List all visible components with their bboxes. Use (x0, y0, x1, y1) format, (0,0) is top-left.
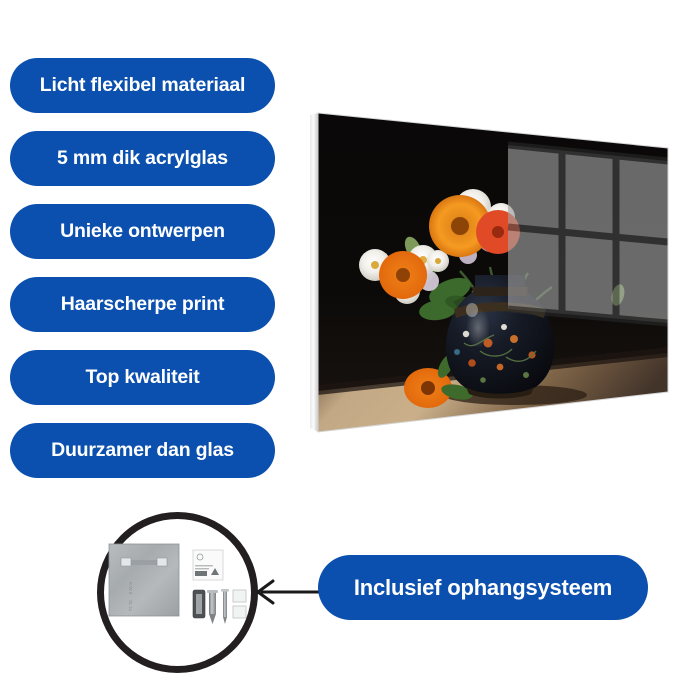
feature-badge-label: Haarscherpe print (61, 295, 225, 315)
feature-badge-2[interactable]: 5 mm dik acrylglas (10, 131, 275, 186)
feature-badge-label: 5 mm dik acrylglas (57, 149, 228, 169)
nail (221, 589, 229, 624)
marigold-bloom (379, 251, 427, 299)
feature-badge-5[interactable]: Top kwaliteit (10, 350, 275, 405)
feature-badge-label: Unieke ontwerpen (60, 222, 225, 242)
wall-plug (193, 590, 205, 618)
feature-badge-4[interactable]: Haarscherpe print (10, 277, 275, 332)
feature-badge-6[interactable]: Duurzamer dan glas (10, 423, 275, 478)
hanging-system-badge[interactable]: Inclusief ophangsysteem (318, 555, 648, 620)
feature-badge-3[interactable]: Unieke ontwerpen (10, 204, 275, 259)
hanging-system-callout-circle: K W 3 SL 11 (97, 512, 258, 673)
aluminium-hanging-plate: K W 3 SL 11 (109, 544, 179, 616)
acrylic-panel-artwork (300, 95, 680, 450)
feature-badge-label: Top kwaliteit (85, 368, 199, 388)
hanging-system-badge-label: Inclusief ophangsysteem (354, 577, 612, 599)
product-feature-graphic: Licht flexibel materiaal 5 mm dik acrylg… (0, 0, 700, 700)
feature-badge-label: Licht flexibel materiaal (40, 76, 245, 96)
instruction-card (193, 550, 223, 580)
feature-badge-1[interactable]: Licht flexibel materiaal (10, 58, 275, 113)
svg-text:SL 11: SL 11 (128, 600, 133, 612)
acrylic-edge-thickness (310, 113, 318, 432)
screw (207, 590, 218, 624)
feature-badge-label: Duurzamer dan glas (51, 441, 234, 461)
mounting-hardware-kit: K W 3 SL 11 (107, 534, 249, 638)
svg-text:K W 3: K W 3 (128, 582, 133, 595)
